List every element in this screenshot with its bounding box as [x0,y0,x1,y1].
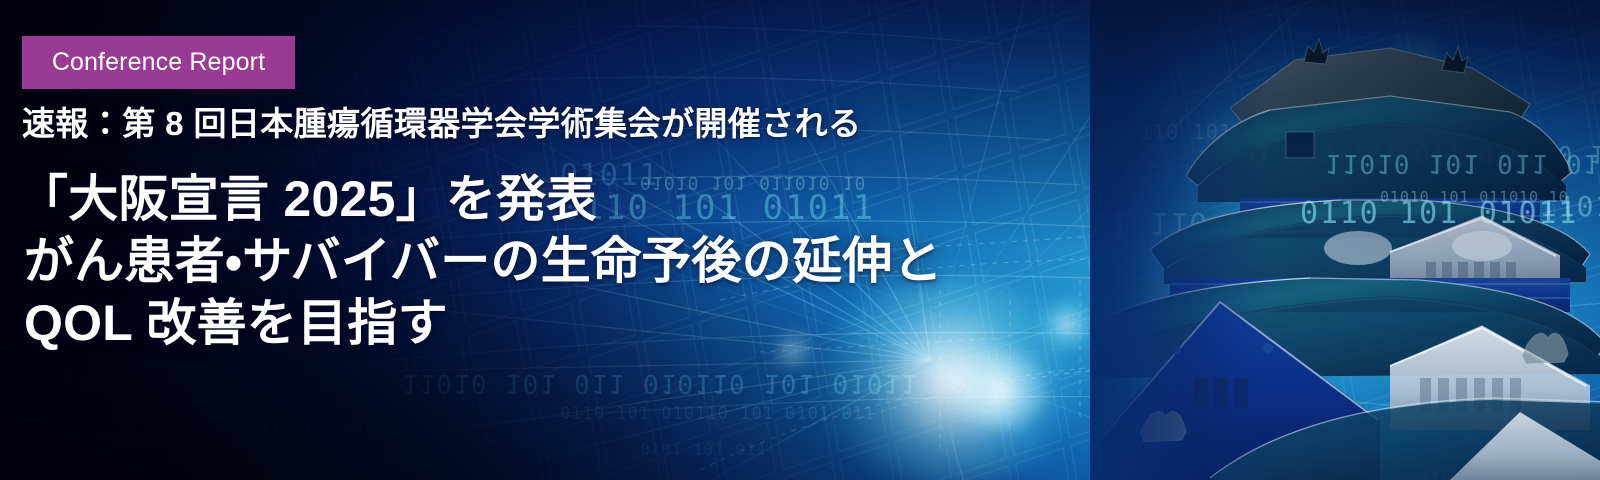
headline-line-2: がん患者・サバイバーの生命予後の延伸と [18,230,943,292]
banner-content: Conference Report 速報：第 8 回日本腫瘍循環器学会学術集会が… [0,0,1600,480]
headline-line-1: 「大阪宣言 2025」を発表 [18,168,943,230]
banner-headline: 「大阪宣言 2025」を発表 がん患者・サバイバーの生命予後の延伸と QOL 改… [18,168,943,354]
banner-subtitle: 速報：第 8 回日本腫瘍循環器学会学術集会が開催される [22,104,861,144]
conference-report-badge: Conference Report [22,36,295,89]
conference-report-badge-label: Conference Report [52,50,265,75]
conference-report-banner: 0110 101 01011 01011 11 110 101 01 110 1… [0,0,1600,480]
headline-line-3: QOL 改善を目指す [18,292,943,354]
